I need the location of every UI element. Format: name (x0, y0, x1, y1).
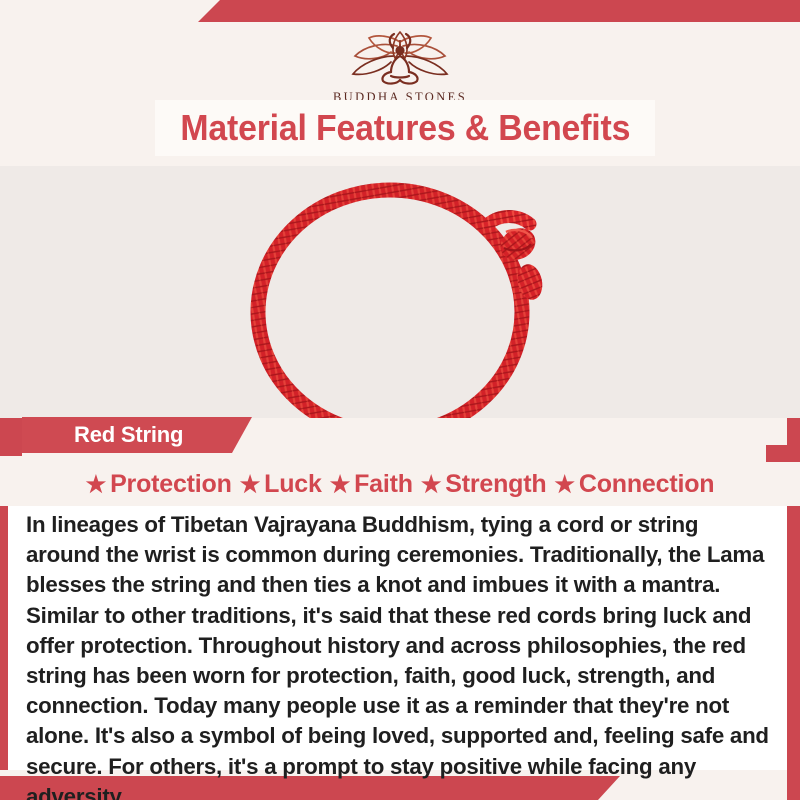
product-label-banner: Red String (22, 417, 252, 453)
benefit-item-protection: ★ Protection (86, 470, 232, 499)
star-icon: ★ (240, 473, 260, 496)
benefit-item-strength: ★ Strength (421, 470, 547, 499)
product-label-text: Red String (74, 422, 183, 448)
star-icon: ★ (554, 473, 574, 496)
benefit-label: Protection (110, 470, 232, 499)
star-icon: ★ (330, 473, 350, 496)
star-icon: ★ (86, 473, 106, 496)
title-banner: Material Features & Benefits (155, 100, 655, 156)
lotus-meditation-figure-icon (325, 26, 475, 88)
left-body-red-edge-decoration (0, 506, 8, 770)
product-image-zone (0, 166, 800, 418)
brand-logo: BUDDHA STONES (0, 26, 800, 105)
benefit-label: Strength (445, 470, 546, 499)
star-icon: ★ (421, 473, 441, 496)
benefit-label: Luck (264, 470, 322, 499)
benefit-item-faith: ★ Faith (330, 470, 413, 499)
benefit-label: Faith (354, 470, 413, 499)
benefit-item-luck: ★ Luck (240, 470, 322, 499)
page-title: Material Features & Benefits (180, 107, 630, 149)
benefits-row: ★ Protection ★ Luck ★ Faith ★ Strength ★… (0, 462, 800, 506)
description-panel: In lineages of Tibetan Vajrayana Buddhis… (8, 506, 787, 770)
top-red-band-decoration (0, 0, 800, 22)
infographic-page: BUDDHA STONES Material Features & Benefi… (0, 0, 800, 800)
benefit-label: Connection (579, 470, 715, 499)
description-text: In lineages of Tibetan Vajrayana Buddhis… (26, 510, 773, 800)
benefit-item-connection: ★ Connection (554, 470, 714, 499)
red-string-bracelet-image (218, 166, 568, 418)
